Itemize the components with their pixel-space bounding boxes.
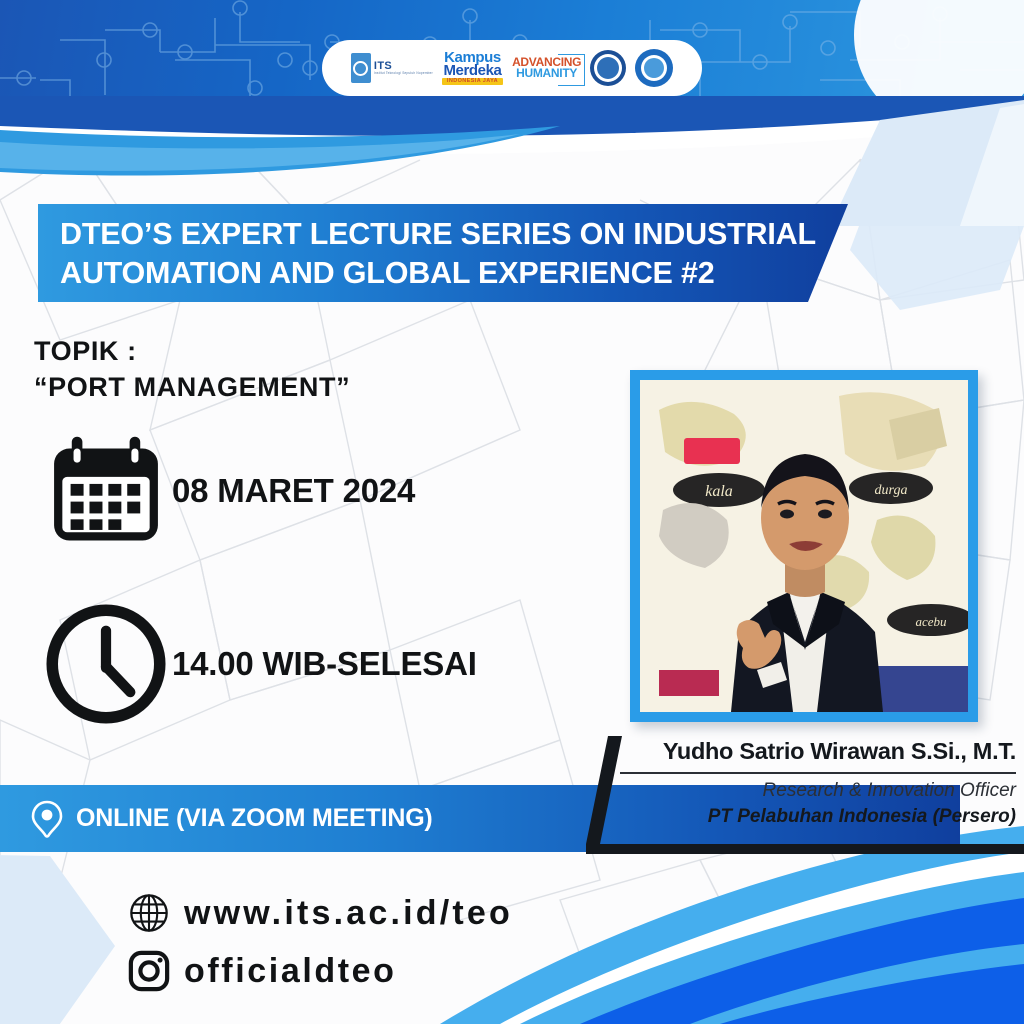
topic-block: TOPIK : “PORT MANAGEMENT”	[34, 334, 350, 405]
speaker-name: Yudho Satrio Wirawan S.Si., M.T.	[614, 738, 1016, 765]
advancing-humanity-frame-icon	[558, 54, 585, 86]
kampus-merdeka-line2: Merdeka	[443, 64, 501, 77]
speaker-photo-frame: kala durga acebu	[630, 370, 978, 722]
instagram-row[interactable]: officialdteo	[128, 942, 513, 1000]
logo-strip: ITS Institut Teknologi Sepuluh Nopember …	[322, 40, 702, 96]
clock-icon	[40, 600, 172, 728]
speaker-divider	[620, 772, 1016, 774]
speaker-name-card: Yudho Satrio Wirawan S.Si., M.T. Researc…	[578, 736, 1024, 858]
instagram-text: officialdteo	[184, 952, 397, 991]
globe-icon	[128, 892, 184, 934]
poster-root: ITS Institut Teknologi Sepuluh Nopember …	[0, 0, 1024, 1024]
speaker-photo: kala durga acebu	[640, 380, 968, 712]
advancing-humanity-logo: ADVANCING HUMANITY	[512, 57, 581, 79]
svg-text:acebu: acebu	[915, 614, 947, 629]
title-line-1: DTEO’S EXPERT LECTURE SERIES ON INDUSTRI…	[60, 217, 816, 251]
footer-links: www.its.ac.id/teo officialdteo	[128, 884, 513, 1000]
svg-text:kala: kala	[705, 483, 733, 500]
website-text: www.its.ac.id/teo	[184, 894, 513, 933]
time-row: 14.00 WIB-SELESAI	[40, 600, 477, 728]
time-text: 14.00 WIB-SELESAI	[172, 645, 477, 683]
kampus-merdeka-logo: Kampus Merdeka INDONESIA JAYA	[442, 51, 503, 85]
kampus-merdeka-tagline: INDONESIA JAYA	[442, 78, 503, 85]
date-text: 08 MARET 2024	[172, 472, 415, 510]
speaker-role: Research & Innovation Officer	[614, 780, 1016, 802]
its-logo-sub: Institut Teknologi Sepuluh Nopember	[374, 72, 433, 75]
page-title: DTEO’S EXPERT LECTURE SERIES ON INDUSTRI…	[60, 215, 840, 293]
date-row: 08 MARET 2024	[40, 432, 415, 550]
its-seal-logo	[590, 50, 626, 86]
topic-value: “PORT MANAGEMENT”	[34, 370, 350, 406]
svg-text:durga: durga	[875, 483, 908, 498]
instagram-icon	[128, 950, 184, 992]
department-gear-logo	[635, 49, 673, 87]
speaker-organization: PT Pelabuhan Indonesia (Persero)	[614, 806, 1016, 828]
title-banner: DTEO’S EXPERT LECTURE SERIES ON INDUSTRI…	[38, 204, 848, 302]
location-text: ONLINE (VIA ZOOM MEETING)	[76, 804, 433, 833]
topic-label: TOPIK :	[34, 334, 350, 370]
its-logo: ITS Institut Teknologi Sepuluh Nopember	[351, 53, 433, 83]
title-line-2: AUTOMATION AND GLOBAL EXPERIENCE #2	[60, 256, 714, 290]
website-row[interactable]: www.its.ac.id/teo	[128, 884, 513, 942]
its-shield-icon	[351, 53, 371, 83]
location-pin-icon	[30, 799, 64, 839]
calendar-icon	[40, 432, 172, 550]
